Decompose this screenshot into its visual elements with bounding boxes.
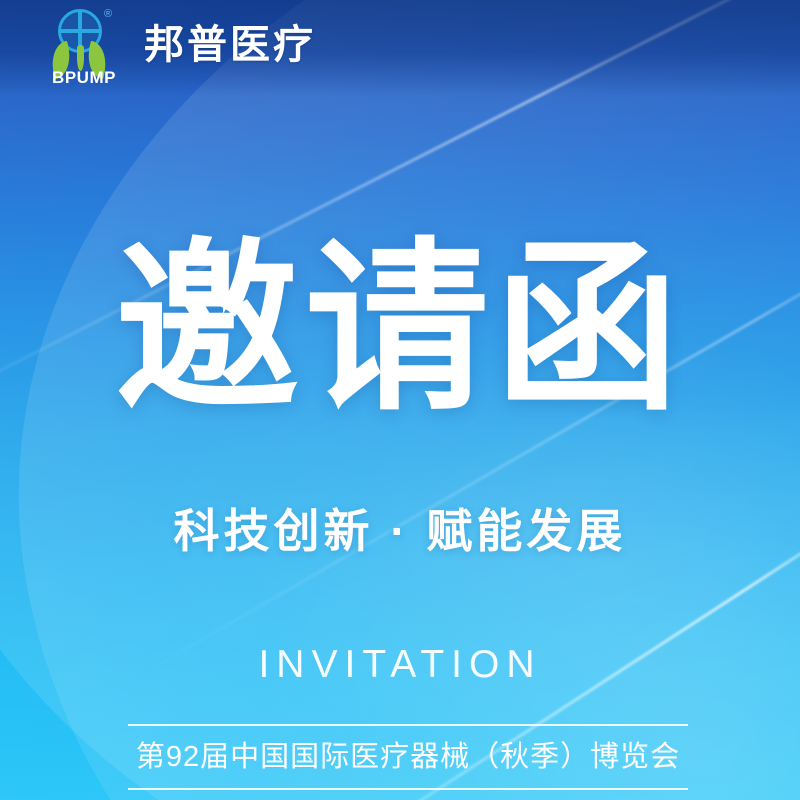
divider-top bbox=[128, 724, 688, 726]
background-ribbon-lower bbox=[0, 195, 800, 800]
logo-chinese-name: 邦普医疗 bbox=[144, 25, 316, 71]
brand-header: ® BPUMP 邦普医疗 bbox=[0, 0, 800, 96]
invitation-poster: ® BPUMP 邦普医疗 邀请函 科技创新 · 赋能发展 INVITATION … bbox=[0, 0, 800, 800]
event-name-block: 第92届中国国际医疗器械（秋季）博览会 bbox=[128, 724, 688, 790]
poster-headline: 邀请函 bbox=[0, 236, 800, 420]
background-glow-bottom-right bbox=[270, 410, 800, 800]
divider-bottom bbox=[128, 788, 688, 790]
poster-content: 邀请函 科技创新 · 赋能发展 INVITATION 第92届中国国际医疗器械（… bbox=[0, 0, 800, 800]
background-decoration bbox=[0, 0, 800, 800]
background-ribbon-middle bbox=[0, 0, 800, 800]
light-streak-middle bbox=[130, 230, 800, 682]
background-ribbon-upper bbox=[0, 0, 800, 800]
event-name: 第92届中国国际医疗器械（秋季）博览会 bbox=[128, 726, 688, 788]
light-streak-bottom bbox=[250, 495, 800, 800]
registered-trademark-icon: ® bbox=[104, 9, 112, 20]
poster-invitation-english: INVITATION bbox=[0, 645, 800, 684]
company-logo: ® BPUMP bbox=[46, 7, 122, 89]
poster-subtitle: 科技创新 · 赋能发展 bbox=[0, 508, 800, 554]
background-glow-center bbox=[120, 330, 800, 750]
logo-english-name: BPUMP bbox=[46, 69, 122, 86]
